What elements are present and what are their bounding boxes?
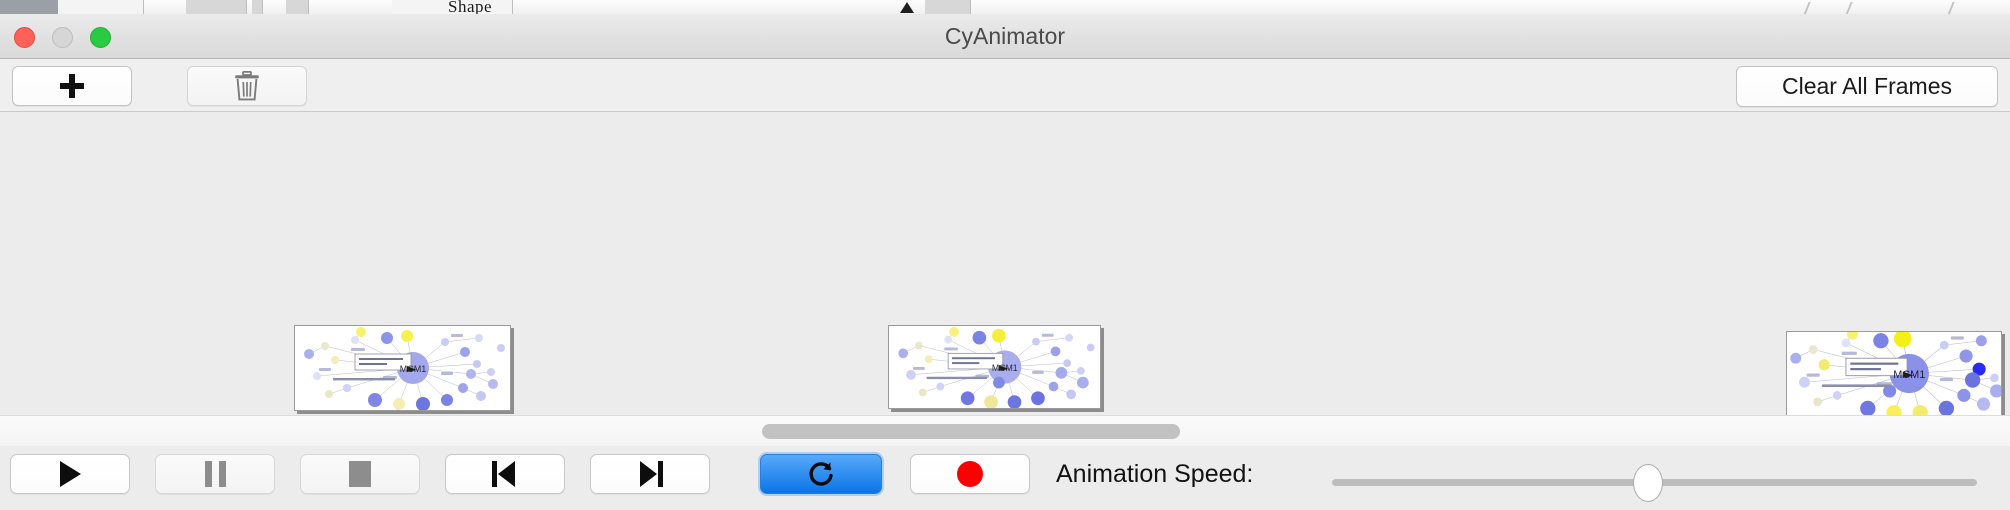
loop-icon	[806, 459, 836, 489]
plus-icon	[60, 74, 84, 98]
stop-icon	[349, 461, 371, 487]
frame-thumbnail-2[interactable]: MCM1	[888, 325, 1101, 409]
background-window-label: Shape	[448, 0, 492, 15]
bg-chip	[925, 0, 971, 14]
bg-chip	[0, 0, 59, 14]
skip-back-icon	[492, 461, 518, 487]
pause-button[interactable]	[155, 454, 275, 494]
animation-speed-slider-knob[interactable]	[1633, 464, 1663, 502]
loop-button[interactable]	[760, 454, 882, 494]
timeline-panel[interactable]: MCM1	[0, 112, 2010, 415]
skip-forward-icon	[637, 461, 663, 487]
svg-text:MCM1: MCM1	[1893, 369, 1925, 381]
bg-chip	[58, 0, 144, 14]
frame-thumbnail-1[interactable]: MCM1	[294, 325, 511, 411]
add-frame-button[interactable]	[12, 66, 132, 106]
frame-thumbnail-3[interactable]: MCM1	[1786, 331, 2002, 415]
delete-frame-button[interactable]	[187, 66, 307, 106]
playback-control-bar: Animation Speed:	[0, 446, 2010, 510]
stop-button[interactable]	[300, 454, 420, 494]
pause-icon	[205, 461, 226, 487]
cyanimator-window: Shape CyAnimator Clear All Frames	[0, 0, 2010, 510]
record-button[interactable]	[910, 454, 1030, 494]
next-frame-button[interactable]	[590, 454, 710, 494]
svg-text:MCM1: MCM1	[400, 364, 427, 374]
bg-chip	[252, 0, 263, 14]
background-window-strip: Shape	[0, 0, 2010, 15]
play-icon	[60, 461, 81, 487]
record-icon	[957, 461, 983, 487]
frame-toolbar: Clear All Frames	[0, 59, 2010, 112]
timeline-scrollbar[interactable]	[0, 415, 2010, 447]
svg-text:MCM1: MCM1	[992, 363, 1018, 373]
timeline-scrollbar-thumb[interactable]	[762, 424, 1180, 439]
previous-frame-button[interactable]	[445, 454, 565, 494]
animation-speed-label: Animation Speed:	[1056, 454, 1253, 494]
clear-all-frames-button[interactable]: Clear All Frames	[1736, 66, 1998, 107]
title-bar: CyAnimator	[0, 14, 2010, 59]
bg-chip	[286, 0, 309, 14]
bg-chip	[186, 0, 247, 14]
bg-pointer-icon	[900, 2, 914, 13]
window-title: CyAnimator	[0, 14, 2010, 58]
trash-icon	[234, 71, 260, 101]
play-button[interactable]	[10, 454, 130, 494]
